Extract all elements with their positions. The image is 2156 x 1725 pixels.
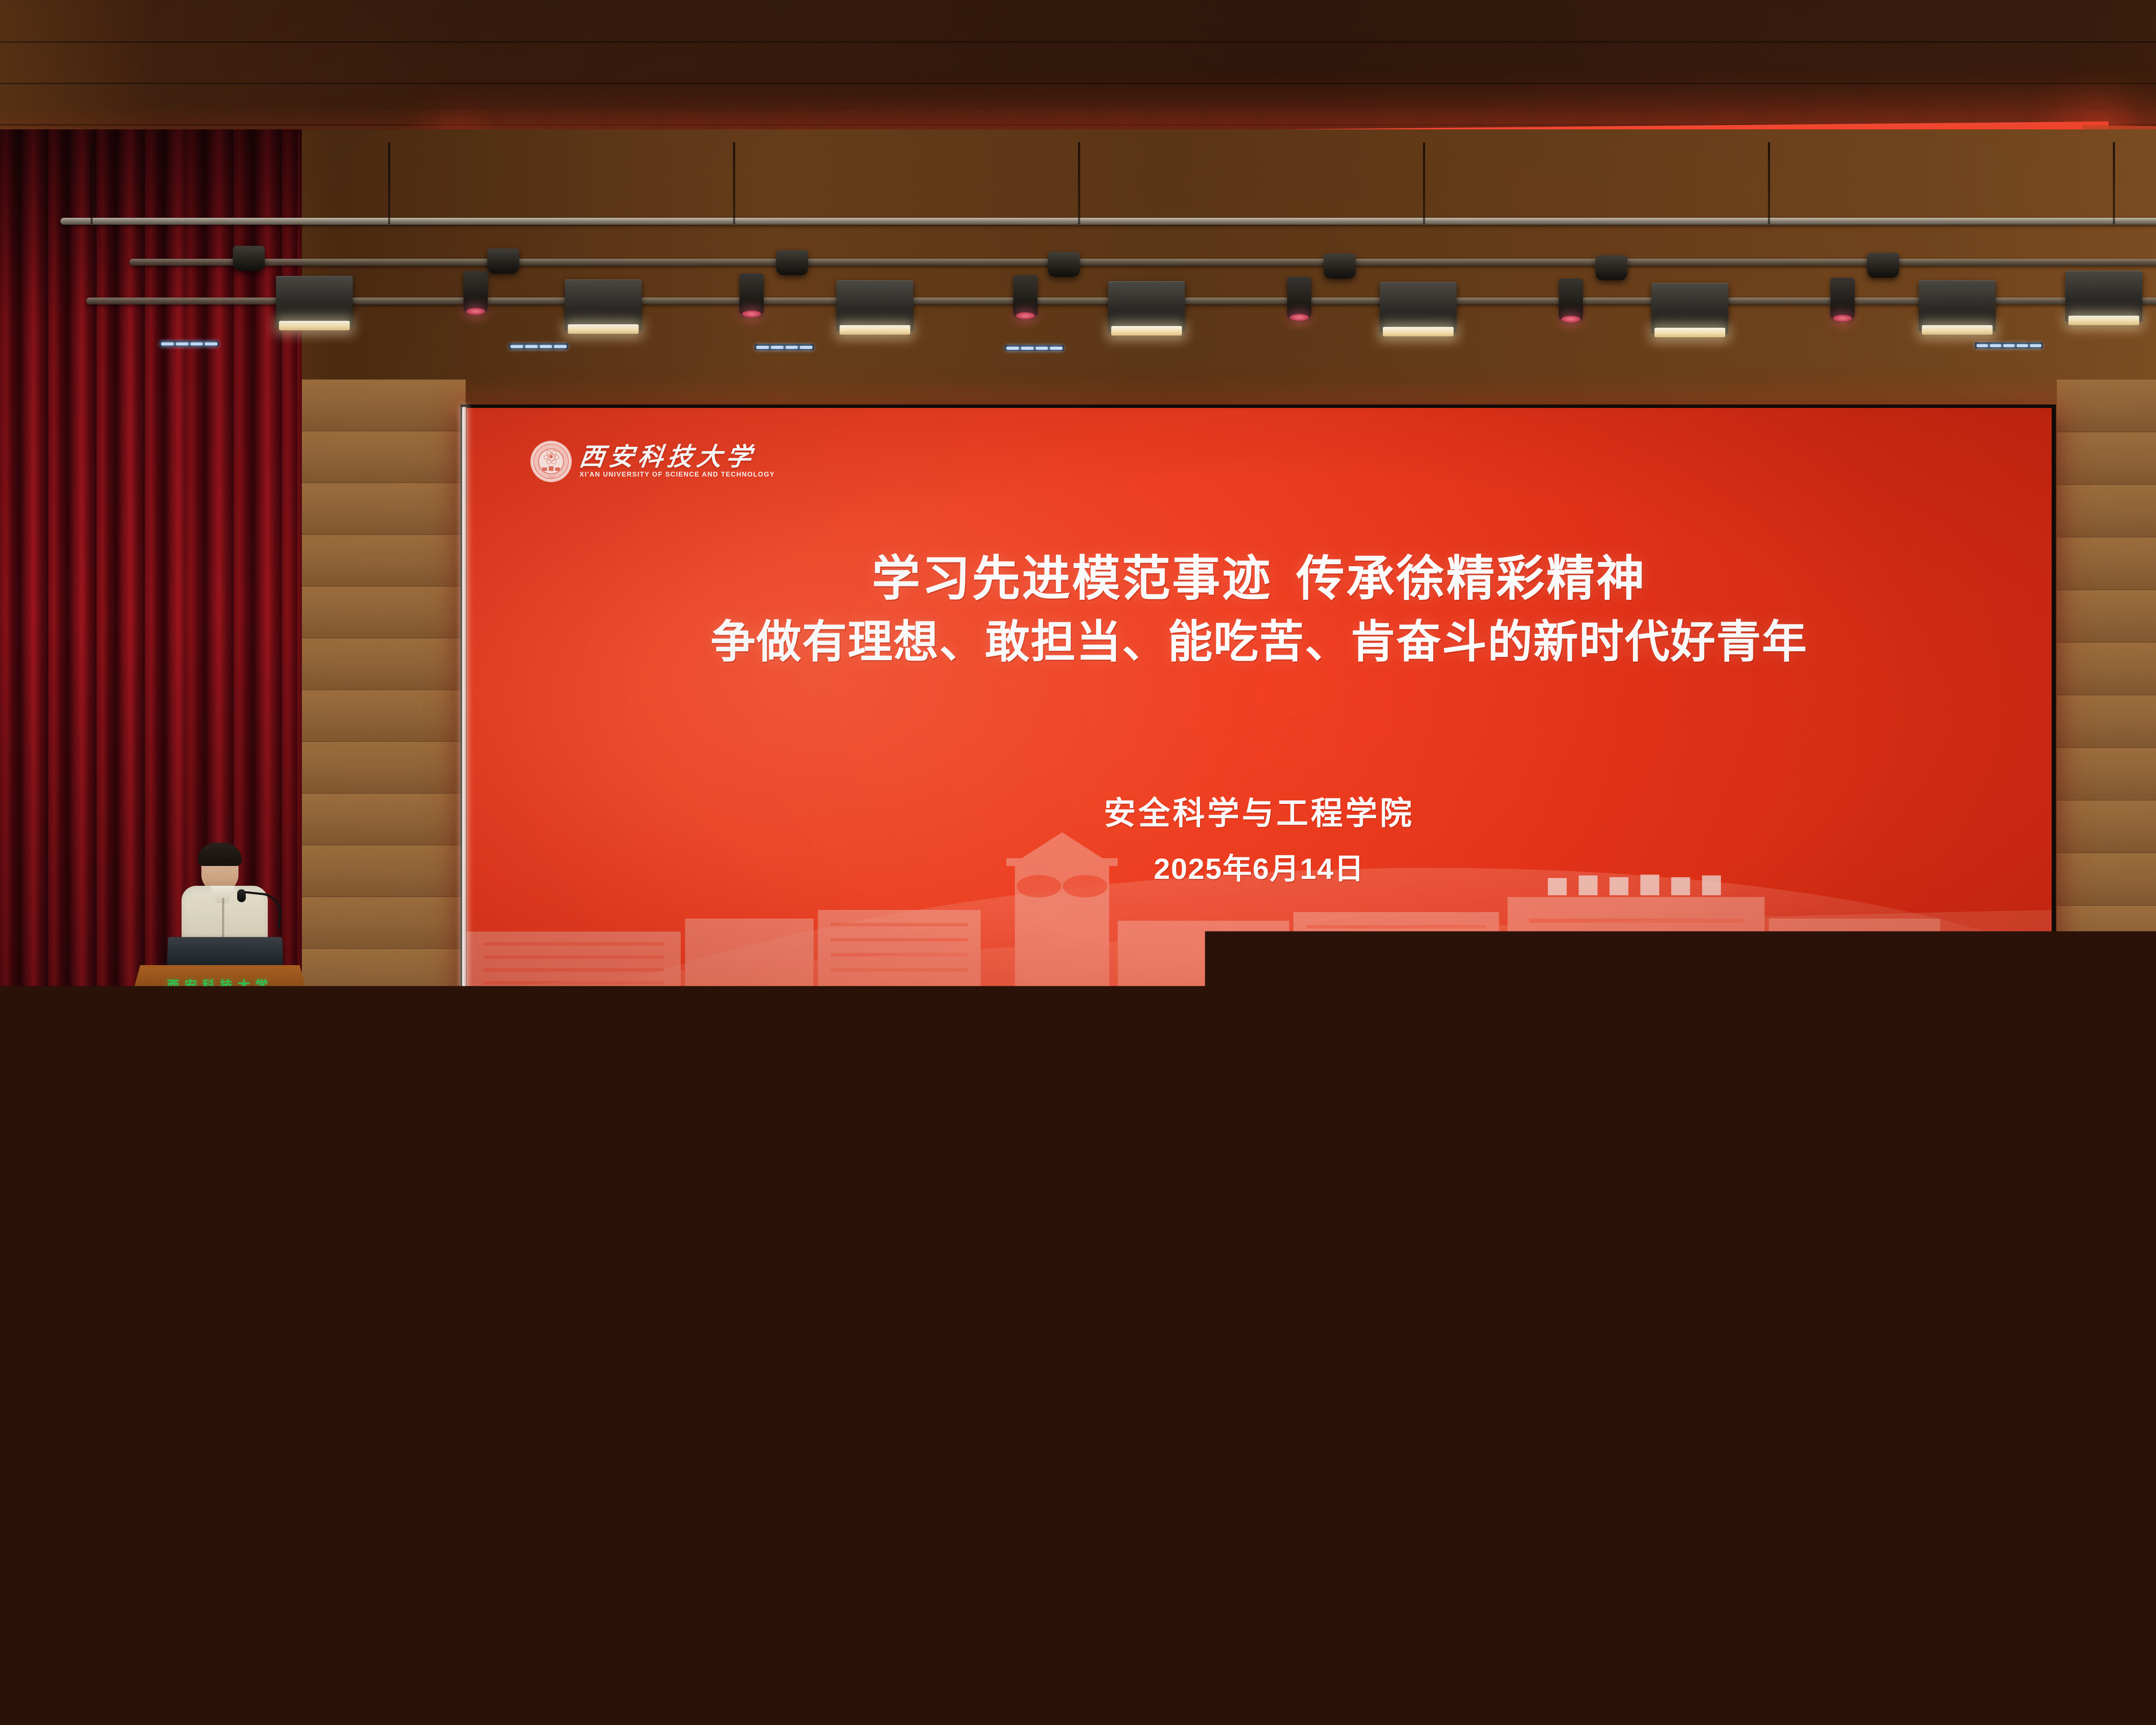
smartphone-icon bbox=[1621, 1550, 1668, 1614]
truss-rod bbox=[1078, 142, 1080, 224]
audience-head bbox=[1754, 1419, 1843, 1525]
microphone-icon bbox=[237, 889, 246, 902]
acoustic-panel bbox=[2057, 800, 2156, 854]
phone-screen bbox=[1624, 1561, 1665, 1612]
audience-head bbox=[440, 1422, 529, 1525]
audience-head bbox=[1982, 1151, 2029, 1207]
audience-head bbox=[86, 1220, 145, 1289]
acoustic-panel bbox=[302, 742, 466, 794]
moving-head-light bbox=[776, 250, 808, 275]
acoustic-panel bbox=[2057, 695, 2156, 749]
acoustic-panel bbox=[2057, 537, 2156, 591]
led-presentation-screen: 1958 西安科技大学 XI'AN UNIVERSITY OF SCIENCE … bbox=[461, 405, 2056, 1017]
lighting-truss-bar bbox=[60, 218, 2156, 225]
acoustic-panel bbox=[668, 1018, 765, 1066]
moving-head-light bbox=[1867, 253, 1899, 278]
truss-rod bbox=[1768, 142, 1770, 224]
acoustic-panel bbox=[302, 897, 466, 950]
audience-head bbox=[4, 1419, 94, 1524]
acoustic-panel bbox=[2057, 485, 2156, 538]
slide-title-part-b: 传承徐精彩精神 bbox=[1296, 552, 1646, 605]
truss-rod bbox=[388, 142, 390, 224]
audience-head bbox=[766, 1414, 862, 1525]
moving-head-light bbox=[1595, 255, 1627, 280]
audience-head bbox=[2099, 1151, 2147, 1207]
stage-spotlight bbox=[1108, 281, 1185, 332]
acoustic-panel bbox=[768, 1018, 865, 1066]
audience-seat[interactable] bbox=[1388, 1509, 1561, 1639]
audience-head bbox=[1744, 1149, 1791, 1206]
acoustic-panel bbox=[2057, 379, 2156, 433]
audience-head bbox=[345, 1600, 470, 1725]
audience-head bbox=[625, 1314, 699, 1397]
audience-head bbox=[525, 1223, 585, 1291]
moving-head-light bbox=[1324, 254, 1356, 279]
audience-head bbox=[1204, 1411, 1300, 1525]
acoustic-panel bbox=[302, 949, 466, 1001]
audience-head bbox=[1138, 1578, 1281, 1725]
acoustic-panel bbox=[2057, 748, 2156, 801]
lighting-truss-bar bbox=[129, 259, 2156, 266]
acoustic-panel bbox=[966, 1018, 1063, 1066]
truss-rod bbox=[1423, 142, 1425, 224]
acoustic-panel bbox=[2057, 590, 2156, 643]
audience-head bbox=[1845, 1222, 1901, 1289]
acoustic-panel bbox=[302, 638, 466, 691]
audience-head bbox=[1973, 1421, 2062, 1525]
phone-speaker-notch bbox=[1633, 1554, 1656, 1558]
par-light bbox=[740, 273, 764, 315]
audience-head bbox=[1507, 1147, 1554, 1205]
audience-head bbox=[1861, 1150, 1910, 1207]
audience-head bbox=[379, 1222, 437, 1290]
audience-head bbox=[1777, 1591, 1906, 1725]
audience-head bbox=[985, 1413, 1081, 1525]
led-bar-light bbox=[1975, 342, 2043, 348]
audience-head bbox=[911, 1151, 960, 1208]
stage-spotlight bbox=[565, 279, 642, 330]
acoustic-panel bbox=[2057, 643, 2156, 696]
ceiling bbox=[0, 0, 2156, 142]
moving-head-light bbox=[1048, 252, 1080, 277]
stage-spotlight bbox=[276, 276, 353, 327]
podium-name-label: 西安科技大学 bbox=[129, 975, 310, 994]
acoustic-panel bbox=[302, 586, 466, 639]
audience-head bbox=[674, 1153, 722, 1209]
audience-head bbox=[659, 1422, 748, 1525]
acoustic-panel bbox=[1065, 1018, 1162, 1066]
stage-spotlight bbox=[837, 280, 913, 331]
stage-spotlight bbox=[1380, 282, 1457, 333]
speaker-hair bbox=[198, 843, 242, 866]
acoustic-panel bbox=[2057, 853, 2156, 906]
logo-name-en: XI'AN UNIVERSITY OF SCIENCE AND TECHNOLO… bbox=[580, 471, 775, 479]
audience-seat[interactable] bbox=[505, 1515, 677, 1645]
acoustic-panel bbox=[302, 1000, 466, 1063]
audience-head bbox=[647, 1591, 776, 1725]
slide-subtitle-date: 2025年6月14日 bbox=[467, 845, 2052, 888]
audience-head bbox=[672, 1224, 730, 1291]
slide-title-part-a: 学习先进模范事迹 bbox=[872, 552, 1272, 605]
seal-year: 1958 bbox=[547, 476, 555, 479]
audience-head bbox=[1861, 1413, 1957, 1525]
university-seal-green-icon bbox=[197, 1076, 243, 1123]
audience-head bbox=[793, 1152, 840, 1207]
audience-head bbox=[1031, 1151, 1079, 1207]
audience-head bbox=[436, 1153, 484, 1209]
par-light bbox=[1287, 277, 1311, 318]
audience-head bbox=[328, 1414, 423, 1524]
acoustic-panel bbox=[302, 793, 466, 846]
audience-head bbox=[1642, 1411, 1738, 1525]
audience-head bbox=[13, 1225, 68, 1289]
podium-and-speaker: 西安科技大学 bbox=[129, 841, 310, 1169]
slide-title-block: 学习先进模范事迹传承徐精彩精神 争做有理想、敢担当、能吃苦、肯奋斗的新时代好青年 bbox=[467, 550, 2052, 668]
audience-head bbox=[2033, 1312, 2106, 1397]
slide-title-line-1: 学习先进模范事迹传承徐精彩精神 bbox=[467, 550, 2052, 607]
par-light bbox=[1559, 279, 1583, 320]
slide-canvas: 1958 西安科技大学 XI'AN UNIVERSITY OF SCIENCE … bbox=[467, 408, 2052, 1013]
par-light bbox=[1013, 275, 1037, 317]
ceiling-seam bbox=[0, 83, 2156, 84]
acoustic-panel bbox=[867, 1018, 964, 1066]
logo-name-cn: 西安科技大学 bbox=[578, 445, 776, 470]
audience-head bbox=[1805, 1156, 1847, 1207]
audience-head bbox=[221, 1421, 310, 1524]
auditorium-scene: 1958 西安科技大学 XI'AN UNIVERSITY OF SCIENCE … bbox=[0, 0, 2156, 1725]
slide-subtitle-org: 安全科学与工程学院 bbox=[467, 787, 2052, 834]
audience-head bbox=[319, 1151, 367, 1207]
ceiling-seam bbox=[0, 41, 2156, 43]
audience-head bbox=[96, 1310, 168, 1396]
acoustic-panel bbox=[302, 483, 466, 536]
led-bar-light bbox=[509, 343, 568, 349]
truss-rod bbox=[733, 142, 735, 224]
stage-spotlight bbox=[1919, 280, 1996, 331]
acoustic-panel bbox=[302, 535, 466, 587]
moving-head-light bbox=[233, 246, 265, 271]
audience-head bbox=[1423, 1410, 1519, 1525]
led-bar-light bbox=[755, 344, 814, 350]
acoustic-panel bbox=[302, 431, 466, 484]
audience-seat[interactable] bbox=[858, 1513, 1031, 1643]
audience-head bbox=[556, 1154, 603, 1208]
audience-head bbox=[109, 1413, 204, 1524]
par-light bbox=[464, 271, 488, 312]
acoustic-panel bbox=[2057, 432, 2156, 486]
audience-head bbox=[233, 1221, 292, 1289]
audience-head bbox=[2043, 1157, 2085, 1208]
acoustic-panel bbox=[470, 1018, 567, 1066]
acoustic-panel bbox=[2057, 906, 2156, 959]
moving-head-light bbox=[487, 248, 519, 273]
audience-head bbox=[1991, 1222, 2051, 1290]
stage-spotlight bbox=[1651, 283, 1728, 334]
audience-head bbox=[78, 1583, 207, 1725]
audience-head bbox=[1624, 1148, 1672, 1205]
acoustic-panel bbox=[2057, 958, 2156, 1012]
audience-head bbox=[1097, 1419, 1186, 1525]
par-light bbox=[1830, 278, 1855, 319]
audience-head bbox=[273, 1312, 346, 1396]
audience-head bbox=[9, 1315, 77, 1396]
speaker-glasses bbox=[203, 863, 237, 871]
led-bar-light bbox=[1005, 345, 1064, 351]
audience-head bbox=[801, 1314, 874, 1397]
truss-rod bbox=[91, 142, 93, 224]
acoustic-panel bbox=[302, 379, 466, 432]
acoustic-panel bbox=[569, 1018, 666, 1066]
university-seal-atom-icon: 1958 bbox=[531, 442, 571, 481]
truss-rod bbox=[2113, 142, 2115, 224]
acoustic-panel bbox=[302, 690, 466, 743]
stage-spotlight bbox=[2065, 271, 2142, 322]
audience-head bbox=[878, 1421, 967, 1525]
slide-university-logo: 1958 西安科技大学 XI'AN UNIVERSITY OF SCIENCE … bbox=[531, 442, 775, 481]
audience-head bbox=[547, 1415, 642, 1525]
slide-subtitle-block: 安全科学与工程学院 2025年6月14日 bbox=[467, 787, 2052, 888]
led-bar-light bbox=[160, 341, 219, 347]
acoustic-panel bbox=[302, 845, 466, 898]
audience-seating-area bbox=[0, 1143, 2156, 1725]
audience-head bbox=[448, 1313, 522, 1397]
audience-seat[interactable] bbox=[1919, 1515, 2091, 1646]
slide-title-line-2: 争做有理想、敢担当、能吃苦、肯奋斗的新时代好青年 bbox=[467, 617, 2052, 668]
